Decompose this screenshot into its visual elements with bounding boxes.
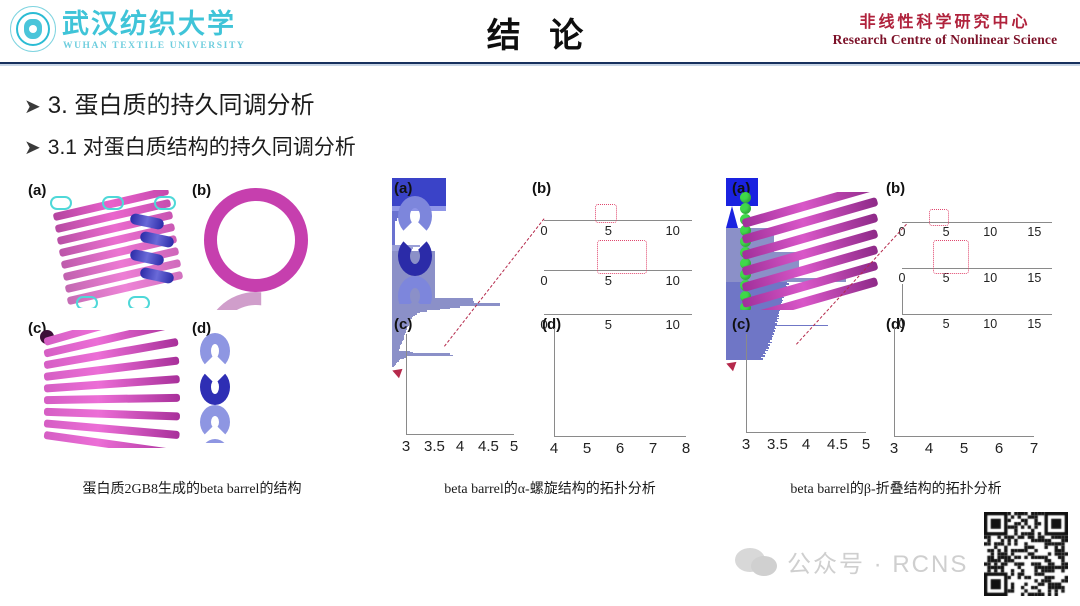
axis-tick: 4	[920, 440, 938, 457]
figure-caption-right: beta barrel的β-折叠结构的拓扑分析	[726, 478, 1066, 498]
sublabel-c: (c)	[732, 316, 750, 333]
helix-turn-mid	[200, 369, 230, 405]
axis-tick: 0	[535, 317, 553, 332]
y-axis-line	[746, 334, 747, 432]
axis-tick: 3	[397, 438, 415, 455]
axis-tick: 6	[611, 440, 629, 457]
axis-tick: 15	[1025, 271, 1043, 285]
loop	[154, 196, 176, 210]
bullet-text-2: 3.1 对蛋白质结构的持久同调分析	[48, 136, 356, 159]
x-axis-line	[406, 434, 514, 435]
slide-header: 武汉纺织大学 WUHAN TEXTILE UNIVERSITY 结 论 非线性科…	[0, 0, 1080, 62]
axis-tick: 5	[578, 440, 596, 457]
figure-panel-right: (a)(b)(c)(d)05101505101505101533.544.553…	[726, 178, 1066, 468]
axis-tick: 4.5	[827, 436, 845, 453]
axis-tick: 10	[664, 273, 682, 288]
axis-tick: 6	[990, 440, 1008, 457]
wechat-watermark: 公众号 · RCNS	[735, 538, 985, 582]
axis-tick: 0	[893, 271, 911, 285]
protein-render-a	[398, 196, 538, 304]
axis-tick: 3	[885, 440, 903, 457]
barcode-bar	[392, 221, 395, 245]
axis-tick: 10	[981, 271, 999, 285]
helix-turn	[398, 196, 432, 236]
axis-tick: 5	[937, 225, 955, 239]
figure-panel-middle: (a)(b)(c)(d)05100510051033.544.5545678	[392, 178, 708, 468]
atom-sphere	[740, 203, 751, 214]
axis-tick: 15	[1025, 225, 1043, 239]
protein-render-c	[40, 330, 186, 448]
qr-code	[984, 512, 1068, 596]
y-axis-line	[902, 284, 903, 314]
axis-tick: 5	[599, 223, 617, 238]
axis-line	[544, 220, 692, 221]
axis-tick: 4.5	[478, 438, 496, 455]
y-axis-line	[554, 328, 555, 436]
axis-tick: 10	[981, 317, 999, 331]
protein-render-b	[204, 188, 334, 310]
centre-name-cn: 非线性科学研究中心	[820, 8, 1070, 32]
bullet-item-2: ➤3.1 对蛋白质结构的持久同调分析	[24, 131, 356, 161]
axis-tick: 7	[644, 440, 662, 457]
watermark-text: 公众号 · RCNS	[787, 544, 968, 579]
axis-tick: 5	[955, 440, 973, 457]
figure-caption-left: 蛋白质2GB8生成的beta barrel的结构	[14, 478, 370, 498]
loop	[76, 296, 98, 308]
sublabel-a: (a)	[394, 180, 412, 197]
axis-tick: 3.5	[767, 436, 785, 453]
barcode-wedge	[726, 206, 738, 228]
zoom-region-box	[595, 204, 617, 223]
axis-line	[902, 222, 1052, 223]
barrel-ring-shade	[204, 292, 308, 310]
helix-turn-bot	[200, 405, 230, 439]
bullet-arrow-icon: ➤	[24, 137, 41, 159]
protein-render-a	[44, 190, 184, 308]
axis-tick: 5	[505, 438, 523, 455]
bullet-arrow-icon: ➤	[24, 96, 41, 118]
callout-arrowhead	[391, 366, 403, 378]
beta-strand	[44, 408, 180, 421]
callout-arrowhead	[725, 358, 737, 370]
axis-tick: 4	[545, 440, 563, 457]
zoom-region-box	[597, 240, 647, 274]
helix-turn	[398, 276, 432, 304]
y-axis-line	[894, 328, 895, 436]
axis-tick: 10	[981, 225, 999, 239]
axis-tick: 3	[737, 436, 755, 453]
axis-tick: 10	[664, 223, 682, 238]
axis-tick: 7	[1025, 440, 1043, 457]
barrel-ring	[204, 188, 308, 292]
bullet-text-1: 3. 蛋白质的持久同调分析	[48, 92, 315, 119]
bullet-item-1: ➤3. 蛋白质的持久同调分析	[24, 85, 314, 120]
loop	[102, 196, 124, 210]
axis-tick: 5	[599, 317, 617, 332]
x-axis-line	[894, 436, 1034, 437]
axis-tick: 0	[893, 317, 911, 331]
sublabel-b: (b)	[886, 180, 905, 197]
y-axis-line	[406, 334, 407, 434]
helix-turn	[398, 236, 432, 276]
axis-tick: 4	[451, 438, 469, 455]
loop	[50, 196, 72, 210]
zoom-region-box	[933, 240, 969, 274]
axis-tick: 0	[535, 273, 553, 288]
figure-caption-middle: beta barrel的α-螺旋结构的拓扑分析	[392, 478, 708, 498]
header-divider	[0, 62, 1080, 66]
beta-strand	[44, 394, 180, 404]
atom-sphere	[740, 192, 751, 203]
axis-tick: 3.5	[424, 438, 442, 455]
wechat-icon	[735, 548, 781, 576]
protein-render-a	[740, 192, 880, 310]
axis-line	[544, 314, 692, 315]
axis-tick: 5	[937, 317, 955, 331]
axis-tick: 5	[599, 273, 617, 288]
helix-turn-top	[200, 439, 230, 443]
x-axis-line	[554, 436, 686, 437]
sublabel-b: (b)	[532, 180, 551, 197]
axis-tick: 5	[857, 436, 875, 453]
figure-panel-left: (a)(b)(c)(d)	[14, 178, 370, 468]
centre-name-en: Research Centre of Nonlinear Science	[820, 32, 1070, 48]
protein-render-d	[200, 333, 342, 443]
axis-line	[902, 268, 1052, 269]
zoom-region-box	[929, 209, 949, 226]
axis-line	[902, 314, 1052, 315]
sublabel-c: (c)	[394, 316, 412, 333]
axis-tick: 8	[677, 440, 695, 457]
helix-turn-top	[200, 333, 230, 369]
x-axis-line	[746, 432, 866, 433]
axis-tick: 15	[1025, 317, 1043, 331]
axis-tick: 10	[664, 317, 682, 332]
loop	[128, 296, 150, 308]
axis-tick: 4	[797, 436, 815, 453]
